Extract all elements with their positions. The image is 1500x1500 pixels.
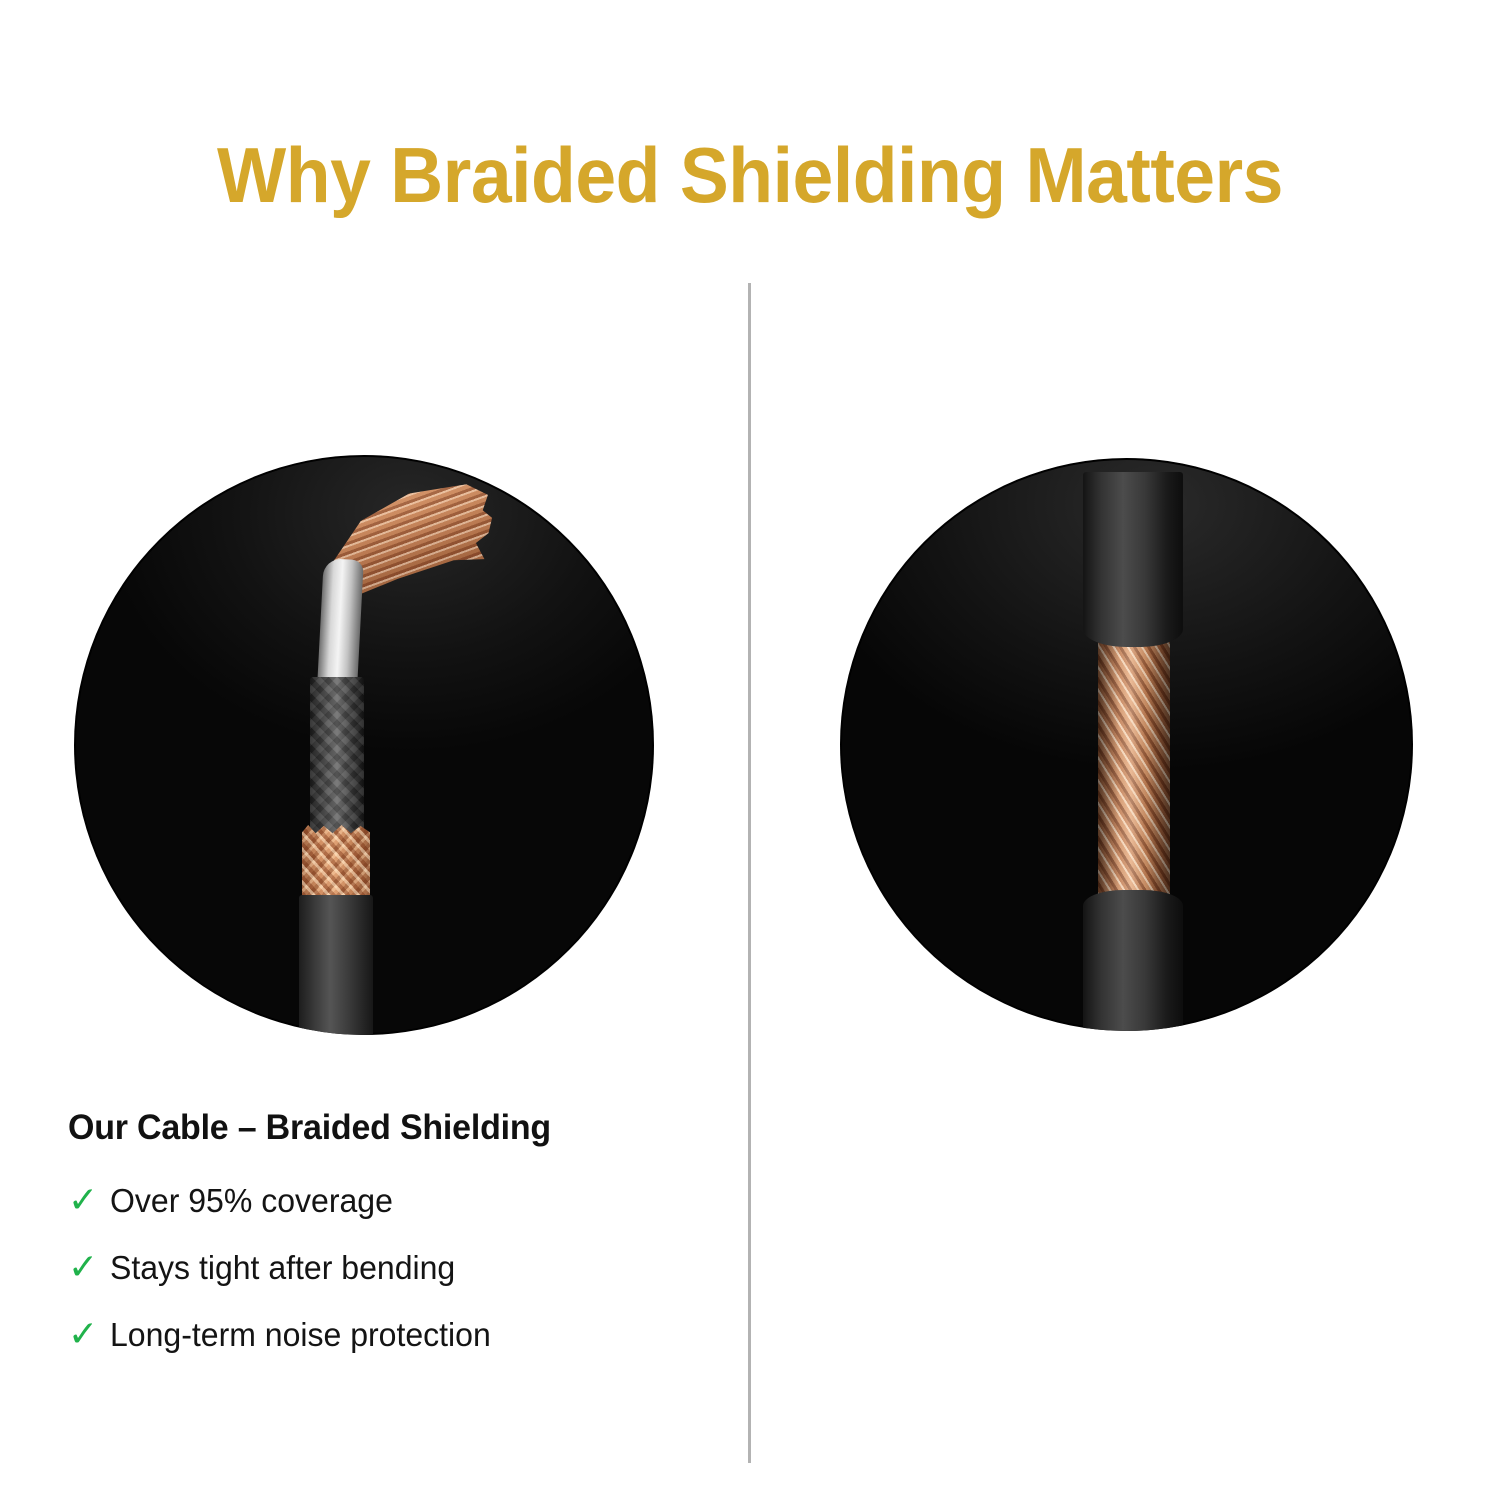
check-icon: ✓ <box>68 1249 110 1285</box>
spiral-cable-photo <box>840 458 1413 1031</box>
list-item: ✓ Long-term noise protection <box>68 1316 728 1355</box>
cable-jacket-top <box>1083 472 1183 647</box>
left-column-heading: Our Cable – Braided Shielding <box>68 1108 708 1148</box>
cable-jacket-bottom <box>1083 890 1183 1031</box>
left-feature-list: ✓ Over 95% coverage ✓ Stays tight after … <box>68 1182 728 1355</box>
feature-label: Stays tight after bending <box>110 1249 455 1288</box>
feature-label: Long-term noise protection <box>110 1316 491 1355</box>
list-item: ✓ Stays tight after bending <box>68 1249 728 1288</box>
braided-cable-photo <box>74 455 654 1035</box>
page-title: Why Braided Shielding Matters <box>45 133 1455 219</box>
list-item: ✓ Over 95% coverage <box>68 1182 728 1221</box>
feature-label: Over 95% coverage <box>110 1182 393 1221</box>
spiral-shield-strands <box>1098 628 1170 918</box>
foil-dielectric <box>310 677 364 845</box>
inner-insulation <box>317 558 364 690</box>
check-icon: ✓ <box>68 1316 110 1352</box>
left-text-block: Our Cable – Braided Shielding ✓ Over 95%… <box>68 1108 728 1355</box>
check-icon: ✓ <box>68 1182 110 1218</box>
cable-outer-jacket <box>299 895 373 1035</box>
column-divider <box>748 283 751 1463</box>
